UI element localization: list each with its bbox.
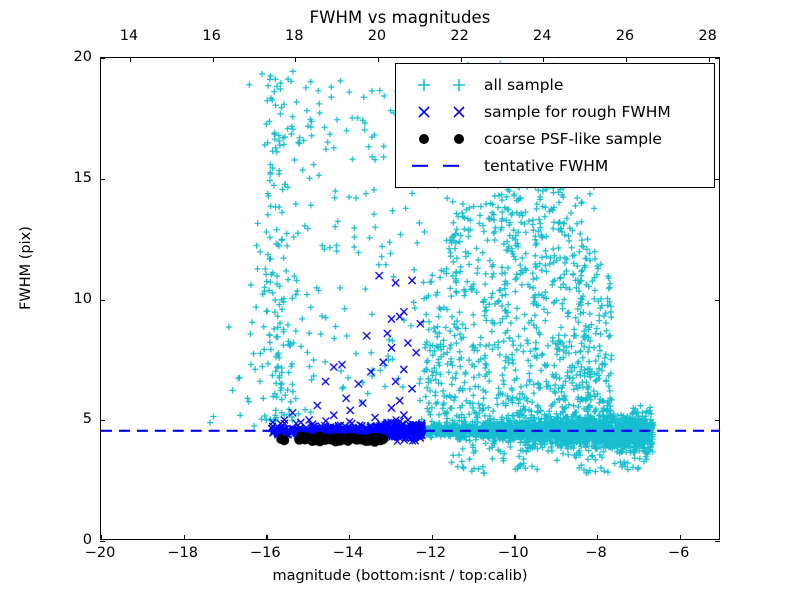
x-axis-label: magnitude (bottom:isnt / top:calib) (0, 568, 800, 584)
tick-label: 24 (533, 28, 551, 44)
tick-label: 15 (74, 170, 92, 186)
tick-mark (626, 57, 627, 62)
legend-label-psf-sample: coarse PSF-like sample (482, 130, 662, 148)
tick-mark (100, 179, 105, 180)
chart-title: FWHM vs magnitudes (0, 8, 800, 27)
dot-marker-icon (454, 134, 464, 144)
tick-label: 22 (450, 28, 468, 44)
tick-mark (715, 541, 720, 542)
tick-label: −16 (250, 545, 281, 561)
tick-mark (130, 57, 131, 62)
legend-entry-rough-fwhm: sample for rough FWHM (406, 98, 704, 125)
tick-label: −10 (498, 545, 529, 561)
tick-label: 14 (120, 28, 138, 44)
plus-marker-icon (453, 78, 466, 91)
tick-label: 26 (616, 28, 634, 44)
cross-marker-icon (453, 105, 466, 118)
dot-marker-icon (419, 134, 429, 144)
dashed-line-icon (412, 164, 428, 166)
tick-label: −12 (415, 545, 446, 561)
tick-label: 20 (74, 49, 92, 65)
y-axis-label: FWHM (pix) (18, 138, 34, 398)
tick-label: 16 (202, 28, 220, 44)
tick-label: 18 (285, 28, 303, 44)
tick-mark (266, 535, 267, 540)
legend-entry-tentative-fwhm: tentative FWHM (406, 152, 704, 179)
tick-mark (184, 535, 185, 540)
legend-marker-psf-sample (406, 125, 482, 152)
tick-mark (100, 541, 105, 542)
legend-label-all-sample: all sample (482, 76, 563, 94)
tick-mark (715, 300, 720, 301)
tick-mark (543, 57, 544, 62)
tick-label: 5 (83, 411, 92, 427)
legend-marker-tentative-fwhm (406, 152, 482, 179)
dashed-line-icon (443, 164, 459, 166)
tick-label: −14 (333, 545, 364, 561)
cross-marker-icon (418, 105, 431, 118)
tick-label: −18 (167, 545, 198, 561)
legend-label-tentative-fwhm: tentative FWHM (482, 157, 608, 175)
legend-entry-psf-sample: coarse PSF-like sample (406, 125, 704, 152)
tick-mark (349, 535, 350, 540)
tick-mark (461, 57, 462, 62)
tick-label: 20 (368, 28, 386, 44)
tick-mark (715, 58, 720, 59)
tick-mark (514, 535, 515, 540)
tick-label: 28 (698, 28, 716, 44)
tick-label: 0 (83, 532, 92, 548)
tick-mark (432, 535, 433, 540)
legend-label-rough-fwhm: sample for rough FWHM (482, 103, 671, 121)
tick-mark (295, 57, 296, 62)
tick-mark (100, 420, 105, 421)
tick-label: −8 (585, 545, 606, 561)
tick-mark (378, 57, 379, 62)
tick-mark (709, 57, 710, 62)
legend-box: all sample sample for rough FWHM coarse … (395, 63, 715, 188)
tick-label: 10 (74, 291, 92, 307)
tick-mark (101, 535, 102, 540)
legend-marker-rough-fwhm (406, 98, 482, 125)
tick-mark (715, 179, 720, 180)
legend-entry-all-sample: all sample (406, 71, 704, 98)
tick-label: −6 (668, 545, 689, 561)
tick-mark (100, 58, 105, 59)
tick-mark (213, 57, 214, 62)
legend-marker-all-sample (406, 71, 482, 98)
figure-canvas: FWHM vs magnitudes magnitude (bottom:isn… (0, 0, 800, 600)
tick-mark (100, 300, 105, 301)
plus-marker-icon (418, 78, 431, 91)
tick-mark (597, 535, 598, 540)
tick-mark (680, 535, 681, 540)
tick-mark (715, 420, 720, 421)
